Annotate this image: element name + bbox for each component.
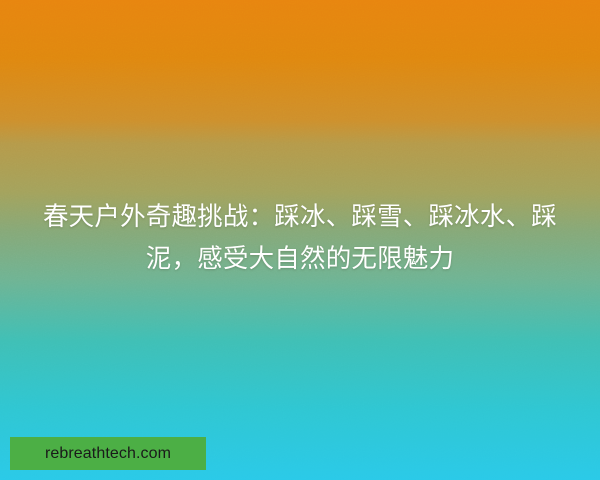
headline-text: 春天户外奇趣挑战：踩冰、踩雪、踩冰水、踩泥，感受大自然的无限魅力 — [0, 196, 600, 280]
watermark-badge: rebreathtech.com — [10, 437, 206, 470]
watermark-label: rebreathtech.com — [45, 446, 171, 462]
image-canvas: 春天户外奇趣挑战：踩冰、踩雪、踩冰水、踩泥，感受大自然的无限魅力 rebreat… — [0, 0, 600, 480]
